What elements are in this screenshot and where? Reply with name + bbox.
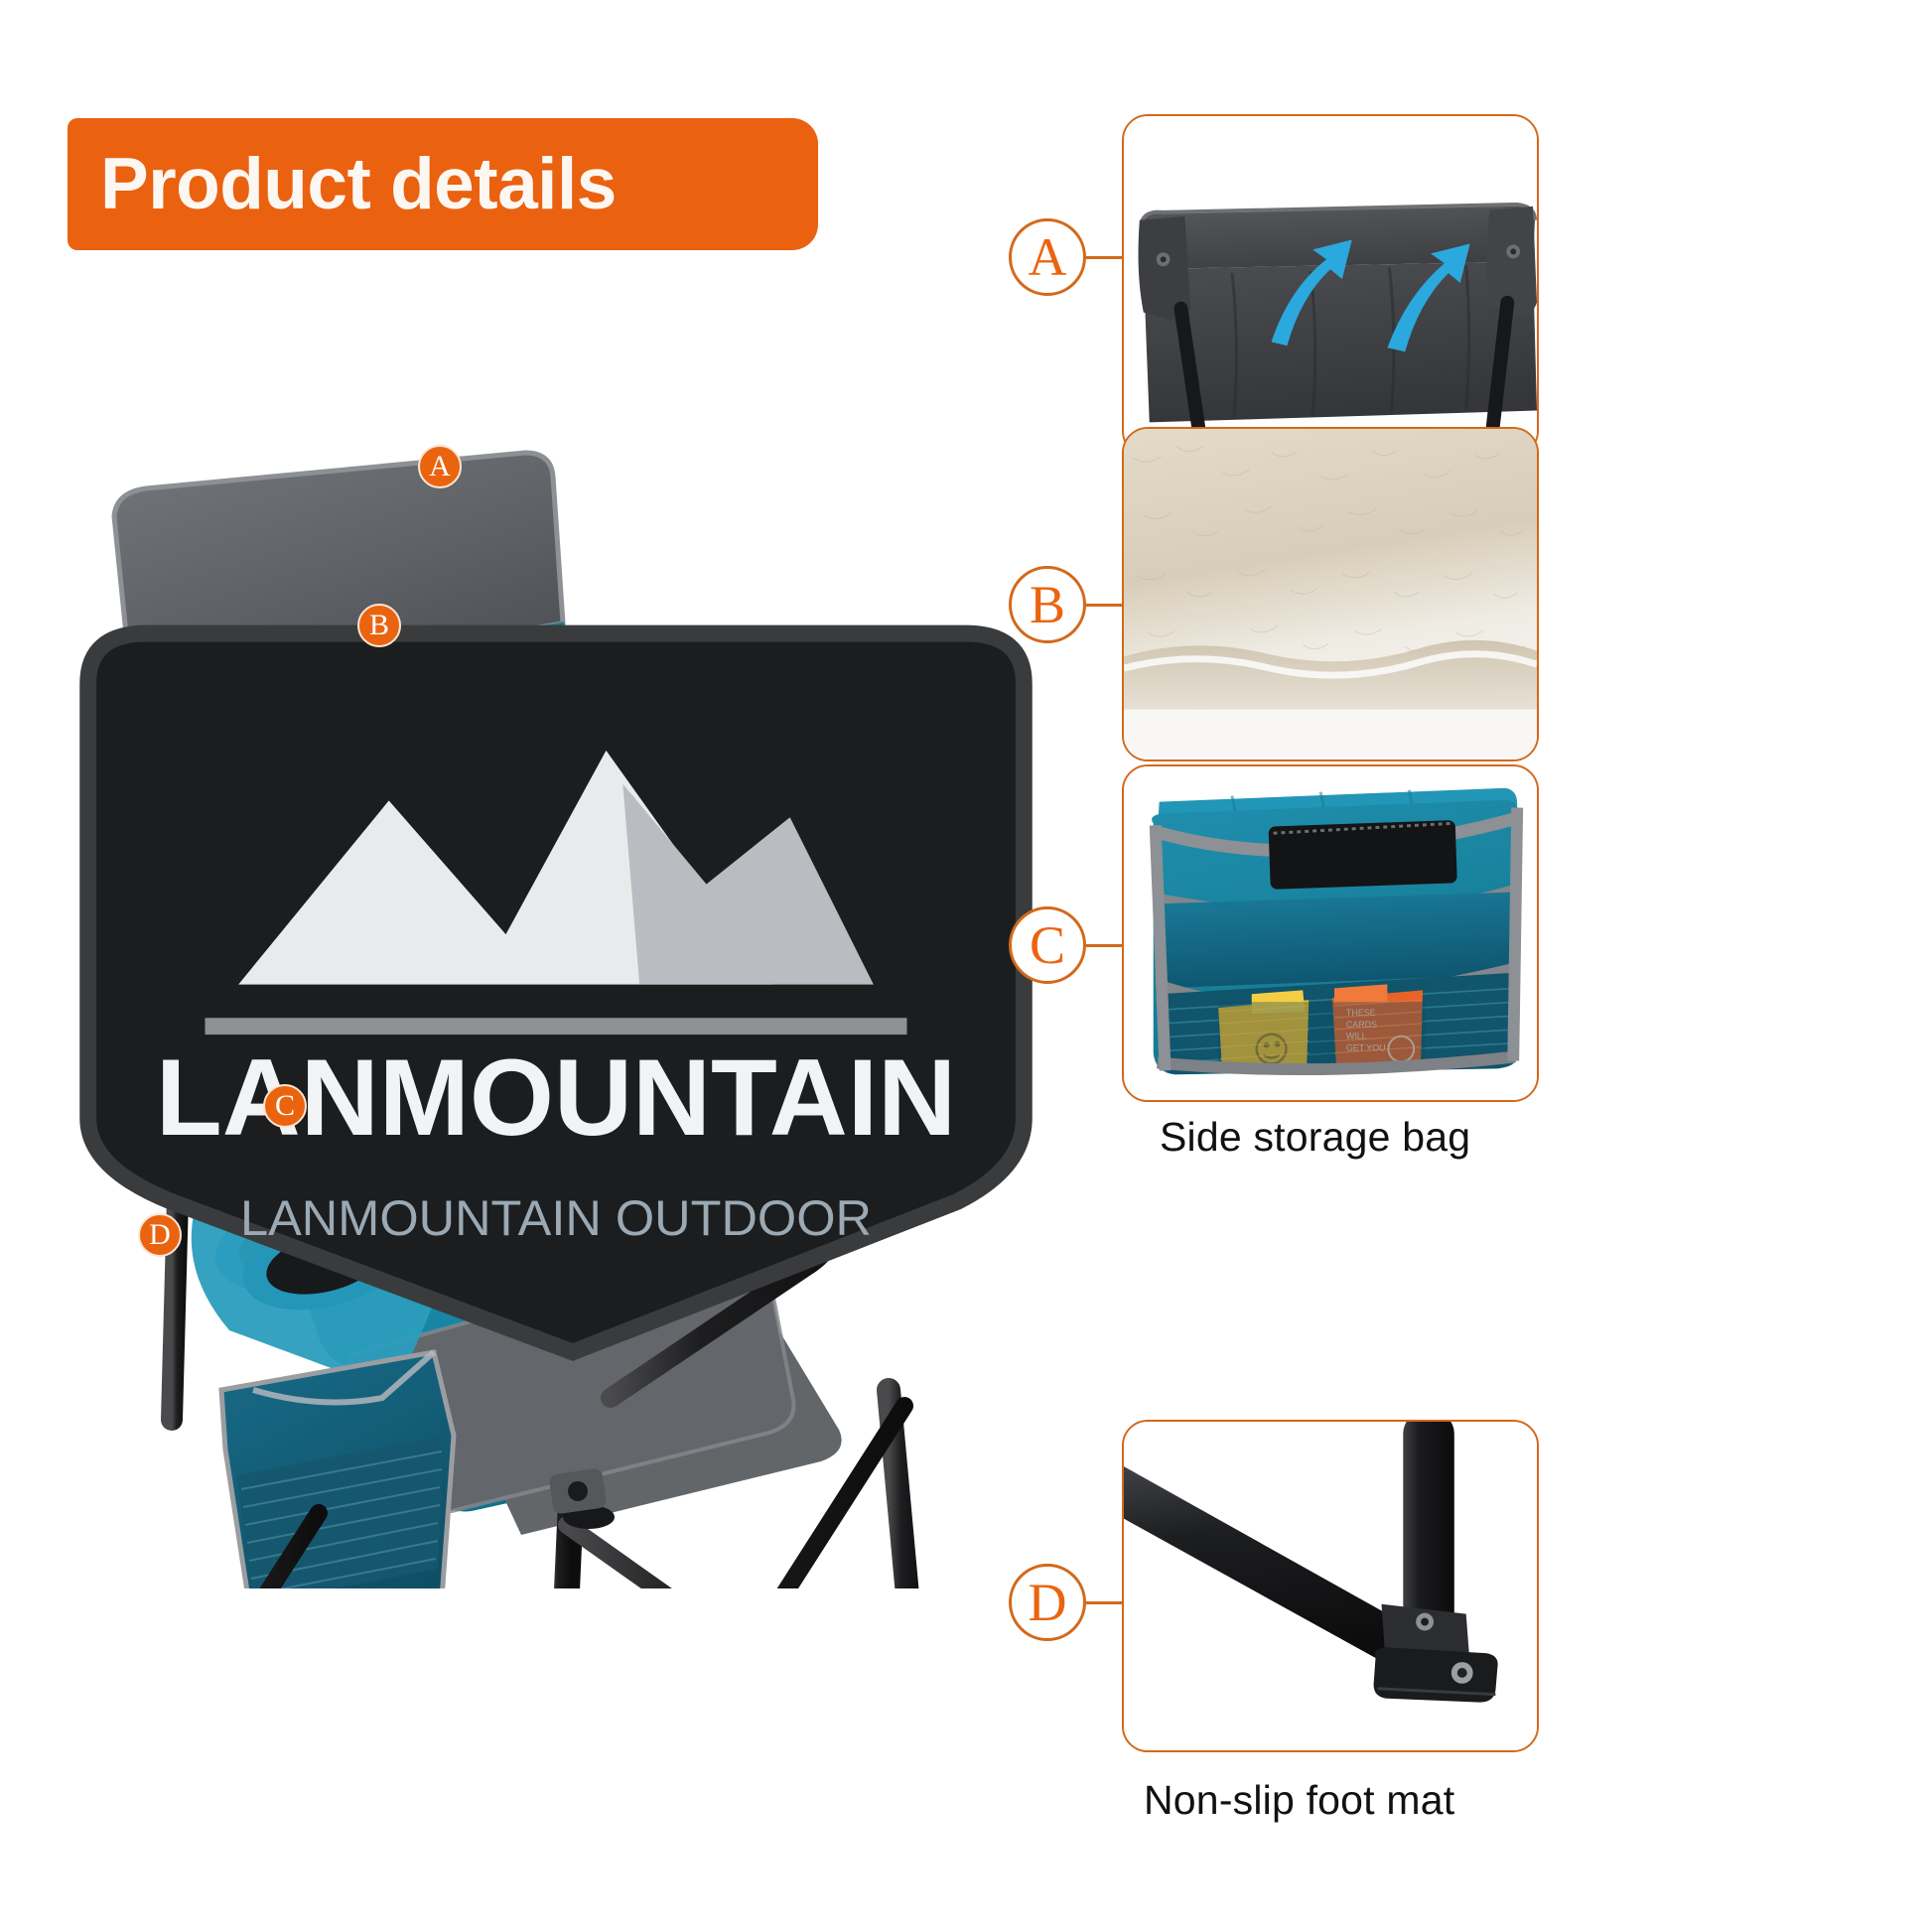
detail-marker-c: C: [1009, 906, 1086, 984]
detail-caption-d: Non-slip foot mat: [1144, 1777, 1454, 1824]
brand-logo-patch: LANMOUNTAIN LANMOUNTAIN OUTDOOR: [55, 397, 1057, 1588]
product-details-infographic: Product details: [0, 0, 1932, 1932]
detail-caption-c: Side storage bag: [1160, 1114, 1470, 1161]
page-title-banner: Product details: [68, 118, 818, 250]
detail-panel-d: [1122, 1420, 1539, 1752]
detail-panel-b: [1122, 427, 1539, 761]
connector-line-b: [1086, 604, 1124, 607]
detail-panel-c: THESECARDS WILLGET YOU: [1122, 764, 1539, 1102]
detail-marker-b: B: [1009, 566, 1086, 643]
connector-line-a: [1086, 256, 1124, 259]
padded-cotton-photo: [1124, 429, 1537, 759]
page-title: Product details: [68, 148, 617, 220]
non-slip-foot-mat-photo: [1124, 1422, 1537, 1750]
hero-marker-b: B: [357, 604, 401, 647]
butterfly-back-photo: [1124, 116, 1537, 455]
main-product-photo: LANMOUNTAIN LANMOUNTAIN OUTDOOR: [55, 397, 1057, 1588]
connector-line-c: [1086, 944, 1124, 947]
detail-marker-d: D: [1009, 1564, 1086, 1641]
hero-marker-d: D: [138, 1213, 182, 1257]
hero-marker-a: A: [418, 445, 462, 488]
connector-line-d: [1086, 1601, 1124, 1604]
side-storage-bag-photo: THESECARDS WILLGET YOU: [1124, 766, 1537, 1100]
hero-marker-c: C: [263, 1084, 307, 1128]
logo-tagline: LANMOUNTAIN OUTDOOR: [240, 1189, 872, 1246]
detail-panel-a: [1122, 114, 1539, 457]
detail-marker-a: A: [1009, 218, 1086, 296]
